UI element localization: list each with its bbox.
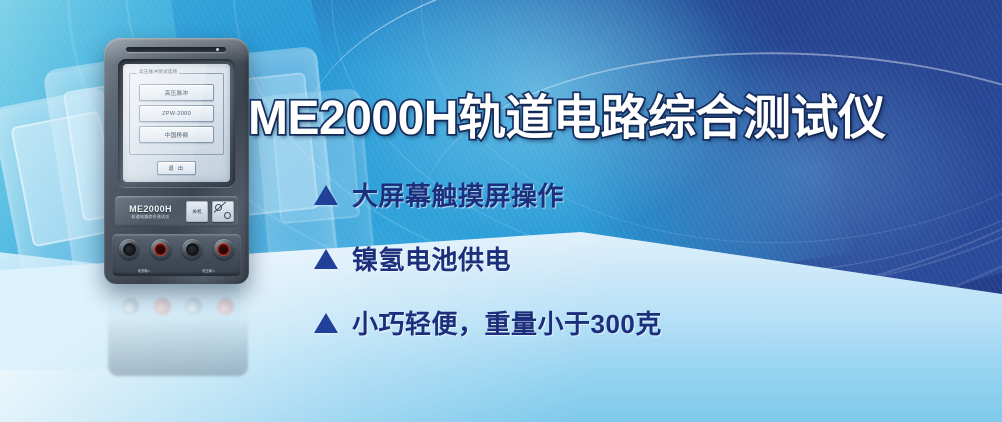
jack-label-voltage-input: 电压输入 [202,268,215,273]
jack-current-input-negative[interactable] [119,239,139,259]
screen-bezel: 高压脉冲测试选项 高压脉冲 ZPW-2000 中国移频 退 出 [118,59,235,187]
feature-item-weight: 小巧轻便，重量小于300克 [314,304,914,341]
device-reflection [108,290,248,376]
brightness-settings-icon[interactable] [212,201,234,222]
screen-menu-button-china-frequency-shift[interactable]: 中国移频 [139,126,214,143]
product-banner: 高压脉冲测试选项 高压脉冲 ZPW-2000 中国移频 退 出 ME2000H … [0,0,1002,422]
feature-item-touchscreen: 大屏幕触摸屏操作 [314,176,914,213]
jack-label-row: 电流输入 电压输入 [112,268,241,273]
reflection-jack-row [116,298,240,315]
screen-menu-button-zpw-2000[interactable]: ZPW-2000 [139,105,214,122]
triangle-bullet-icon [314,249,338,269]
triangle-bullet-icon [314,313,338,333]
feature-label: 小巧轻便，重量小于300克 [352,304,662,341]
reflection-jack [122,298,139,315]
device-model-label: ME2000H [119,204,182,214]
screen-group-title: 高压脉冲测试选项 [137,69,179,75]
feature-label: 镍氢电池供电 [352,240,511,277]
reflection-jack [185,298,202,315]
feature-list: 大屏幕触摸屏操作 镍氢电池供电 小巧轻便，重量小于300克 [314,176,914,368]
reflection-jack [154,298,171,315]
jack-hole [154,243,167,256]
power-off-button[interactable]: 关机 [186,201,208,222]
jack-hole [186,243,199,256]
reflection-jack [217,298,234,315]
triangle-bullet-icon [314,185,338,205]
speaker-slot [126,47,226,52]
device-subtitle-label: 轨道电路综合测试仪 [119,214,182,220]
screen-menu-button-high-voltage-pulse[interactable]: 高压脉冲 [139,84,214,101]
brand-text-block: ME2000H 轨道电路综合测试仪 [119,204,182,220]
screen-fieldset: 高压脉冲测试选项 高压脉冲 ZPW-2000 中国移频 [129,73,224,155]
icon-dot-upper [215,204,222,211]
indicator-dot [216,48,219,51]
device-brand-plate: ME2000H 轨道电路综合测试仪 关机 [115,196,238,227]
jack-current-input-positive[interactable] [151,239,171,259]
icon-dot-lower [224,212,231,219]
product-device: 高压脉冲测试选项 高压脉冲 ZPW-2000 中国移频 退 出 ME2000H … [104,38,249,284]
device-jack-panel: 电流输入 电压输入 [112,234,241,276]
page-title: ME2000H轨道电路综合测试仪 [248,78,885,148]
jack-voltage-input-negative[interactable] [182,239,202,259]
device-screen[interactable]: 高压脉冲测试选项 高压脉冲 ZPW-2000 中国移频 退 出 [123,64,230,182]
jack-voltage-input-positive[interactable] [214,239,234,259]
device-body: 高压脉冲测试选项 高压脉冲 ZPW-2000 中国移频 退 出 ME2000H … [104,38,249,284]
feature-label: 大屏幕触摸屏操作 [352,176,564,213]
jack-hole [123,243,136,256]
jack-hole [217,243,230,256]
feature-item-battery: 镍氢电池供电 [314,240,914,277]
screen-exit-button[interactable]: 退 出 [157,161,196,175]
jack-label-current-input: 电流输入 [138,268,151,273]
